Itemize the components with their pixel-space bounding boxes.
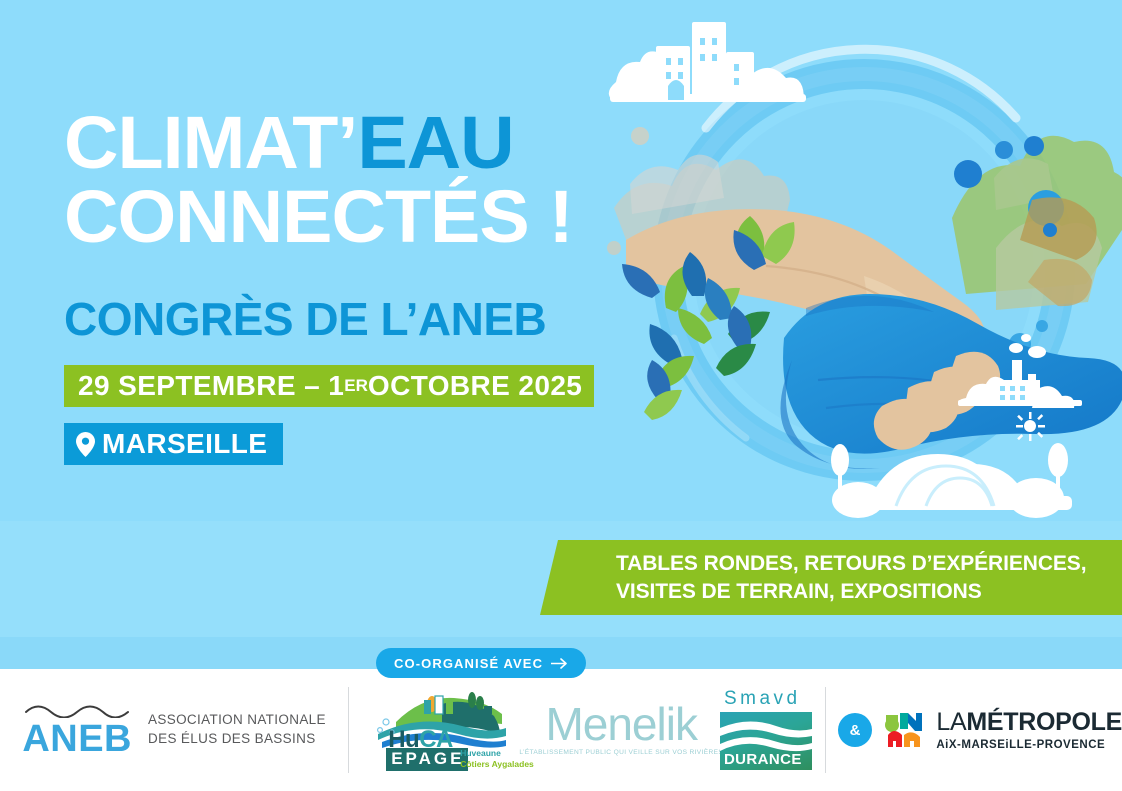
- menelik-tagline: L’ÉTABLISSEMENT PUBLIC QUI VEILLE SUR VO…: [519, 749, 723, 756]
- logo-huca-epage: HuCA EPAGE Huveaune Côtiers Aygalades: [349, 669, 531, 791]
- headline-line1-accent: EAU: [357, 101, 513, 184]
- metropole-wordmark: LAMÉTROPOLE: [936, 710, 1122, 735]
- huca-epage-text: EPAGE: [386, 748, 468, 771]
- date-prefix: 29 SEPTEMBRE – 1: [78, 370, 344, 402]
- smavd-wordmark: Smavd: [720, 689, 816, 708]
- huca-tagline: Huveaune Côtiers Aygalades: [460, 748, 534, 771]
- menelik-wordmark: Menelik: [545, 704, 697, 745]
- logo-smavd-durance: Smavd DURANCE: [711, 669, 824, 791]
- wave-icon: [25, 702, 129, 718]
- city-badge: MARSEILLE: [64, 423, 283, 465]
- metropole-mark-icon: [884, 711, 924, 749]
- aneb-tagline-line1: ASSOCIATION NATIONALE: [148, 711, 326, 730]
- aneb-tagline-line2: DES ÉLUS DES BASSINS: [148, 730, 326, 749]
- metropole-la-text: LA: [936, 708, 966, 736]
- page-title: CLIMAT’EAU CONNECTÉS !: [64, 108, 573, 251]
- aneb-wordmark: ANEB: [22, 720, 132, 758]
- logo-metropole: LAMÉTROPOLE AiX-MARSEiLLE-PROVENCE: [884, 669, 1122, 791]
- headline-line2: CONNECTÉS !: [64, 182, 573, 252]
- smavd-block: DURANCE: [720, 712, 812, 770]
- date-badge: 29 SEPTEMBRE – 1ER OCTOBRE 2025: [64, 365, 594, 407]
- ampersand-text: &: [838, 713, 872, 747]
- logo-aneb: ANEB ASSOCIATION NATIONALE DES ÉLUS DES …: [0, 669, 348, 791]
- aneb-tagline: ASSOCIATION NATIONALE DES ÉLUS DES BASSI…: [148, 711, 326, 748]
- city-badge-label: MARSEILLE: [102, 428, 267, 460]
- location-pin-icon: [76, 432, 95, 457]
- date-ordinal: ER: [344, 376, 368, 396]
- handshake-water-illustration: [596, 8, 1122, 538]
- metropole-subtitle: AiX-MARSEiLLE-PROVENCE: [936, 739, 1122, 751]
- page-subtitle: CONGRÈS DE L’ANEB: [64, 296, 546, 342]
- metropole-metropole-text: MÉTROPOLE: [966, 708, 1122, 736]
- smavd-durance-text: DURANCE: [724, 752, 802, 767]
- huca-tagline-line2b: Aygalades: [492, 759, 534, 769]
- huca-tagline-line2a: Côtiers: [460, 759, 491, 769]
- arrow-right-icon: [551, 658, 568, 669]
- date-suffix: OCTOBRE 2025: [368, 370, 582, 402]
- logo-menelik: Menelik L’ÉTABLISSEMENT PUBLIC QUI VEILL…: [531, 669, 711, 791]
- activities-banner: TABLES RONDES, RETOURS D’EXPÉRIENCES, VI…: [540, 540, 1122, 615]
- ampersand-badge: &: [826, 669, 885, 791]
- activities-line-1: TABLES RONDES, RETOURS D’EXPÉRIENCES,: [616, 550, 1122, 578]
- huca-tagline-line1: Huveaune: [460, 748, 534, 759]
- poster-root: CLIMAT’EAU CONNECTÉS ! CONGRÈS DE L’ANEB…: [0, 0, 1122, 791]
- partner-logos-row: ANEB ASSOCIATION NATIONALE DES ÉLUS DES …: [0, 669, 1122, 791]
- headline-line1-white: CLIMAT’: [64, 101, 357, 184]
- activities-line-2: VISITES DE TERRAIN, EXPOSITIONS: [616, 578, 1122, 606]
